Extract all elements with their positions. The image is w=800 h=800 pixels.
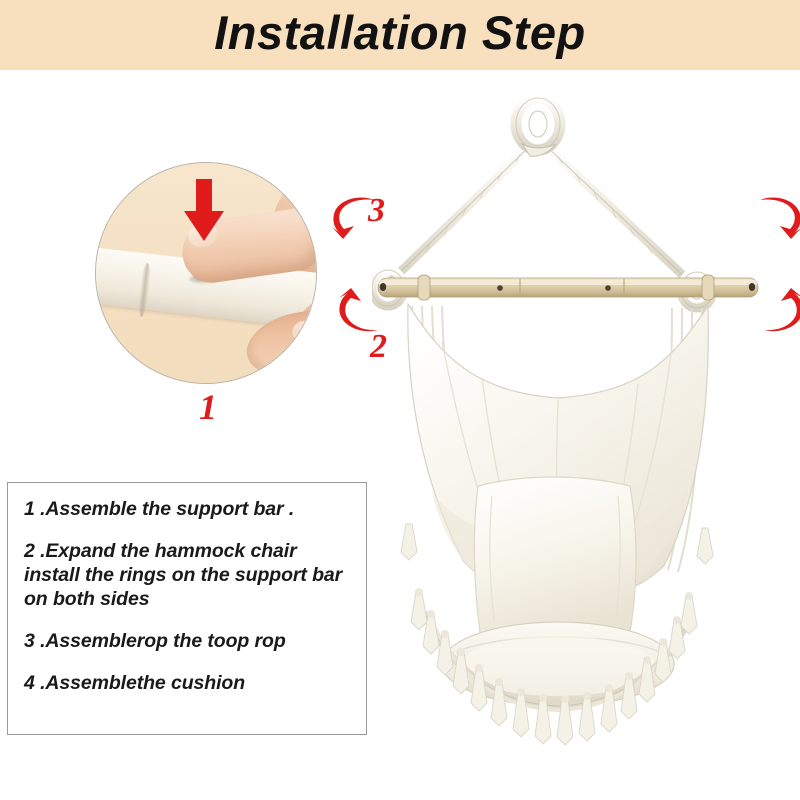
red-down-arrow-icon	[182, 177, 226, 243]
support-bar-spring-button-photo	[95, 162, 317, 384]
instruction-item-4: 4 .Assemblethe cushion	[24, 671, 352, 695]
installation-step-infographic: Installation Step 1 3 2	[0, 0, 800, 800]
instruction-item-3: 3 .Assemblerop the toop rop	[24, 629, 352, 653]
instruction-panel: 1 .Assemble the support bar . 2 .Expand …	[7, 482, 367, 735]
callout-number-1: 1	[186, 386, 230, 428]
hammock-chair-illustration	[372, 92, 800, 752]
instruction-item-2: 2 .Expand the hammock chair install the …	[24, 539, 352, 611]
back-cushion	[474, 477, 636, 644]
page-title: Installation Step	[0, 0, 800, 70]
support-bar	[378, 275, 758, 300]
instruction-item-1: 1 .Assemble the support bar .	[24, 497, 352, 521]
